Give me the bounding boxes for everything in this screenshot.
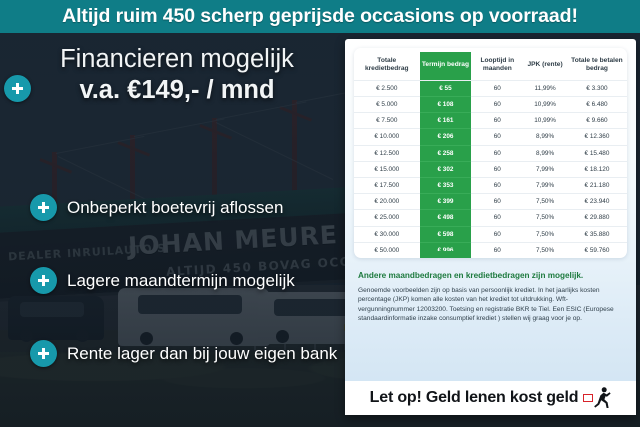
feature-item-1: Onbeperkt boetevrij aflossen (30, 194, 283, 221)
cell-total-payable: € 9.660 (567, 113, 627, 129)
cell-total-credit: € 15.000 (354, 161, 420, 177)
table-row: € 30.000 € 598 60 7,50% € 35.880 (354, 226, 627, 242)
table-header-cell: JPK (rente) (523, 52, 567, 80)
cell-total-payable: € 12.360 (567, 129, 627, 145)
cell-term-months: 60 (471, 97, 523, 113)
cell-jkp: 7,99% (523, 177, 567, 193)
table-row: € 50.000 € 996 60 7,50% € 59.760 (354, 242, 627, 258)
feature-label: Lagere maandtermijn mogelijk (67, 271, 295, 291)
disclaimer-block: Andere maandbedragen en kredietbedragen … (345, 258, 636, 324)
cell-total-credit: € 30.000 (354, 226, 420, 242)
feature-label: Rente lager dan bij jouw eigen bank (67, 344, 337, 364)
cell-jkp: 8,99% (523, 145, 567, 161)
cell-total-payable: € 18.120 (567, 161, 627, 177)
cell-monthly-amount: € 161 (420, 113, 472, 129)
cell-term-months: 60 (471, 113, 523, 129)
legal-warning-text: Let op! Geld lenen kost geld (370, 389, 579, 407)
table-body: € 2.500 € 55 60 11,99% € 3.300 € 5.000 €… (354, 80, 627, 258)
cell-total-credit: € 17.500 (354, 177, 420, 193)
cell-jkp: 10,99% (523, 97, 567, 113)
cell-total-payable: € 35.880 (567, 226, 627, 242)
cell-total-credit: € 5.000 (354, 97, 420, 113)
headline-line-2: v.a. €149,- / mnd (18, 74, 336, 106)
banner-headline: Altijd ruim 450 scherp geprijsde occasio… (0, 0, 640, 33)
credit-table: Totale kredietbedrag Termijn bedrag Loop… (354, 52, 627, 258)
table-header-cell: Totale kredietbedrag (354, 52, 420, 80)
cell-jkp: 7,50% (523, 242, 567, 258)
cell-total-payable: € 6.480 (567, 97, 627, 113)
table-row: € 17.500 € 353 60 7,99% € 21.180 (354, 177, 627, 193)
cell-term-months: 60 (471, 226, 523, 242)
plus-icon (30, 194, 57, 221)
disclaimer-heading: Andere maandbedragen en kredietbedragen … (358, 270, 623, 281)
table-row: € 7.500 € 161 60 10,99% € 9.660 (354, 113, 627, 129)
plus-icon (4, 75, 31, 102)
table-row: € 15.000 € 302 60 7,99% € 18.120 (354, 161, 627, 177)
cell-total-payable: € 23.940 (567, 194, 627, 210)
table-row: € 10.000 € 206 60 8,99% € 12.360 (354, 129, 627, 145)
feature-item-2: Lagere maandtermijn mogelijk (30, 267, 295, 294)
cell-total-payable: € 21.180 (567, 177, 627, 193)
cell-term-months: 60 (471, 177, 523, 193)
cell-total-credit: € 20.000 (354, 194, 420, 210)
table-row: € 12.500 € 258 60 8,99% € 15.480 (354, 145, 627, 161)
table-row: € 25.000 € 498 60 7,50% € 29.880 (354, 210, 627, 226)
headline-line-1: Financieren mogelijk (18, 44, 336, 74)
feature-label: Onbeperkt boetevrij aflossen (67, 198, 283, 218)
table-row: € 2.500 € 55 60 11,99% € 3.300 (354, 80, 627, 96)
cell-total-payable: € 3.300 (567, 80, 627, 96)
cell-total-payable: € 59.760 (567, 242, 627, 258)
left-content: Financieren mogelijk v.a. €149,- / mnd O… (0, 33, 345, 427)
cell-monthly-amount: € 598 (420, 226, 472, 242)
cell-total-payable: € 29.880 (567, 210, 627, 226)
cell-total-credit: € 12.500 (354, 145, 420, 161)
plus-icon (30, 267, 57, 294)
credit-panel: Totale kredietbedrag Termijn bedrag Loop… (345, 39, 636, 415)
cell-jkp: 10,99% (523, 113, 567, 129)
cell-monthly-amount: € 399 (420, 194, 472, 210)
feature-item-3: Rente lager dan bij jouw eigen bank (30, 340, 337, 367)
cell-term-months: 60 (471, 210, 523, 226)
cell-jkp: 8,99% (523, 129, 567, 145)
table-row: € 20.000 € 399 60 7,50% € 23.940 (354, 194, 627, 210)
cell-term-months: 60 (471, 145, 523, 161)
cell-total-credit: € 10.000 (354, 129, 420, 145)
plus-icon (30, 340, 57, 367)
cell-monthly-amount: € 206 (420, 129, 472, 145)
advert-banner: DEALER INRUILAUTO'S JOHAN MEURE ALTIJD 4… (0, 0, 640, 427)
cell-jkp: 7,50% (523, 226, 567, 242)
cell-total-credit: € 7.500 (354, 113, 420, 129)
cell-total-credit: € 50.000 (354, 242, 420, 258)
cell-term-months: 60 (471, 194, 523, 210)
table-header-cell: Totale te betalen bedrag (567, 52, 627, 80)
cell-jkp: 11,99% (523, 80, 567, 96)
cell-jkp: 7,50% (523, 194, 567, 210)
cell-monthly-amount: € 353 (420, 177, 472, 193)
headline-block: Financieren mogelijk v.a. €149,- / mnd (18, 44, 336, 106)
highlight-column-tail (420, 251, 472, 258)
credit-table-card: Totale kredietbedrag Termijn bedrag Loop… (354, 48, 627, 258)
cell-jkp: 7,50% (523, 210, 567, 226)
table-row: € 5.000 € 108 60 10,99% € 6.480 (354, 97, 627, 113)
cell-monthly-amount: € 258 (420, 145, 472, 161)
cell-monthly-amount: € 55 (420, 80, 472, 96)
legal-warning-strip: Let op! Geld lenen kost geld (345, 381, 636, 415)
table-header-row: Totale kredietbedrag Termijn bedrag Loop… (354, 52, 627, 80)
cell-jkp: 7,99% (523, 161, 567, 177)
warning-box-icon (583, 394, 593, 402)
cell-term-months: 60 (471, 129, 523, 145)
top-banner: Altijd ruim 450 scherp geprijsde occasio… (0, 0, 640, 33)
cell-term-months: 60 (471, 242, 523, 258)
disclaimer-body: Genoemde voorbeelden zijn op basis van p… (358, 286, 623, 324)
cell-total-credit: € 2.500 (354, 80, 420, 96)
cell-total-credit: € 25.000 (354, 210, 420, 226)
table-header-cell: Looptijd in maanden (471, 52, 523, 80)
cell-monthly-amount: € 108 (420, 97, 472, 113)
cell-term-months: 60 (471, 80, 523, 96)
running-man-icon (583, 387, 611, 409)
cell-total-payable: € 15.480 (567, 145, 627, 161)
cell-term-months: 60 (471, 161, 523, 177)
cell-monthly-amount: € 498 (420, 210, 472, 226)
cell-monthly-amount: € 302 (420, 161, 472, 177)
table-header-cell: Termijn bedrag (420, 52, 472, 80)
